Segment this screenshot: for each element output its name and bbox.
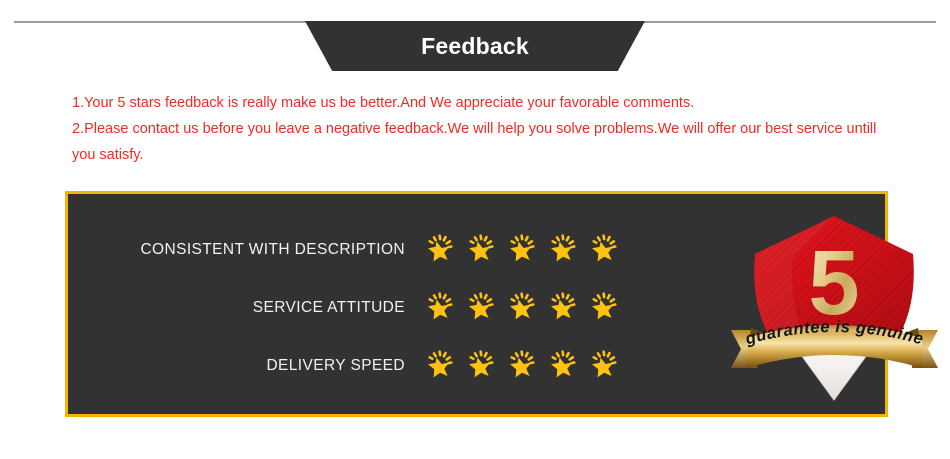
rating-label-delivery-speed: DELIVERY SPEED [93, 357, 423, 375]
header-rule-left [14, 21, 306, 23]
header-banner: Feedback [0, 0, 950, 88]
feedback-notice: 1.Your 5 stars feedback is really make u… [72, 90, 892, 168]
sparkle-star-icon [423, 348, 459, 384]
header-banner-shape: Feedback [305, 21, 645, 71]
sparkle-star-icon [464, 348, 500, 384]
sparkle-star-icon [587, 232, 623, 268]
sparkle-star-icon [423, 232, 459, 268]
rating-label-service-attitude: SERVICE ATTITUDE [93, 299, 423, 317]
rating-panel: CONSISTENT WITH DESCRIPTION [65, 191, 888, 417]
sparkle-star-icon [464, 290, 500, 326]
sparkle-star-icon [505, 348, 541, 384]
header-rule-right [644, 21, 936, 23]
star-rating-delivery-speed [423, 348, 623, 384]
sparkle-star-icon [546, 348, 582, 384]
sparkle-star-icon [546, 232, 582, 268]
star-rating-consistent-with-description [423, 232, 623, 268]
rating-rows: CONSISTENT WITH DESCRIPTION [93, 223, 663, 397]
rating-row: DELIVERY SPEED [93, 339, 663, 393]
sparkle-star-icon [505, 290, 541, 326]
sparkle-star-icon [587, 348, 623, 384]
rating-label-consistent-with-description: CONSISTENT WITH DESCRIPTION [93, 241, 423, 259]
rating-row: CONSISTENT WITH DESCRIPTION [93, 223, 663, 277]
sparkle-star-icon [505, 232, 541, 268]
page-title: Feedback [305, 21, 645, 71]
notice-line-2: 2.Please contact us before you leave a n… [72, 116, 892, 168]
sparkle-star-icon [423, 290, 459, 326]
shield-guarantee-icon: 5 guarantee is genuine [727, 202, 942, 402]
sparkle-star-icon [464, 232, 500, 268]
star-rating-service-attitude [423, 290, 623, 326]
notice-line-1: 1.Your 5 stars feedback is really make u… [72, 90, 892, 116]
sparkle-star-icon [546, 290, 582, 326]
rating-row: SERVICE ATTITUDE [93, 281, 663, 335]
sparkle-star-icon [587, 290, 623, 326]
